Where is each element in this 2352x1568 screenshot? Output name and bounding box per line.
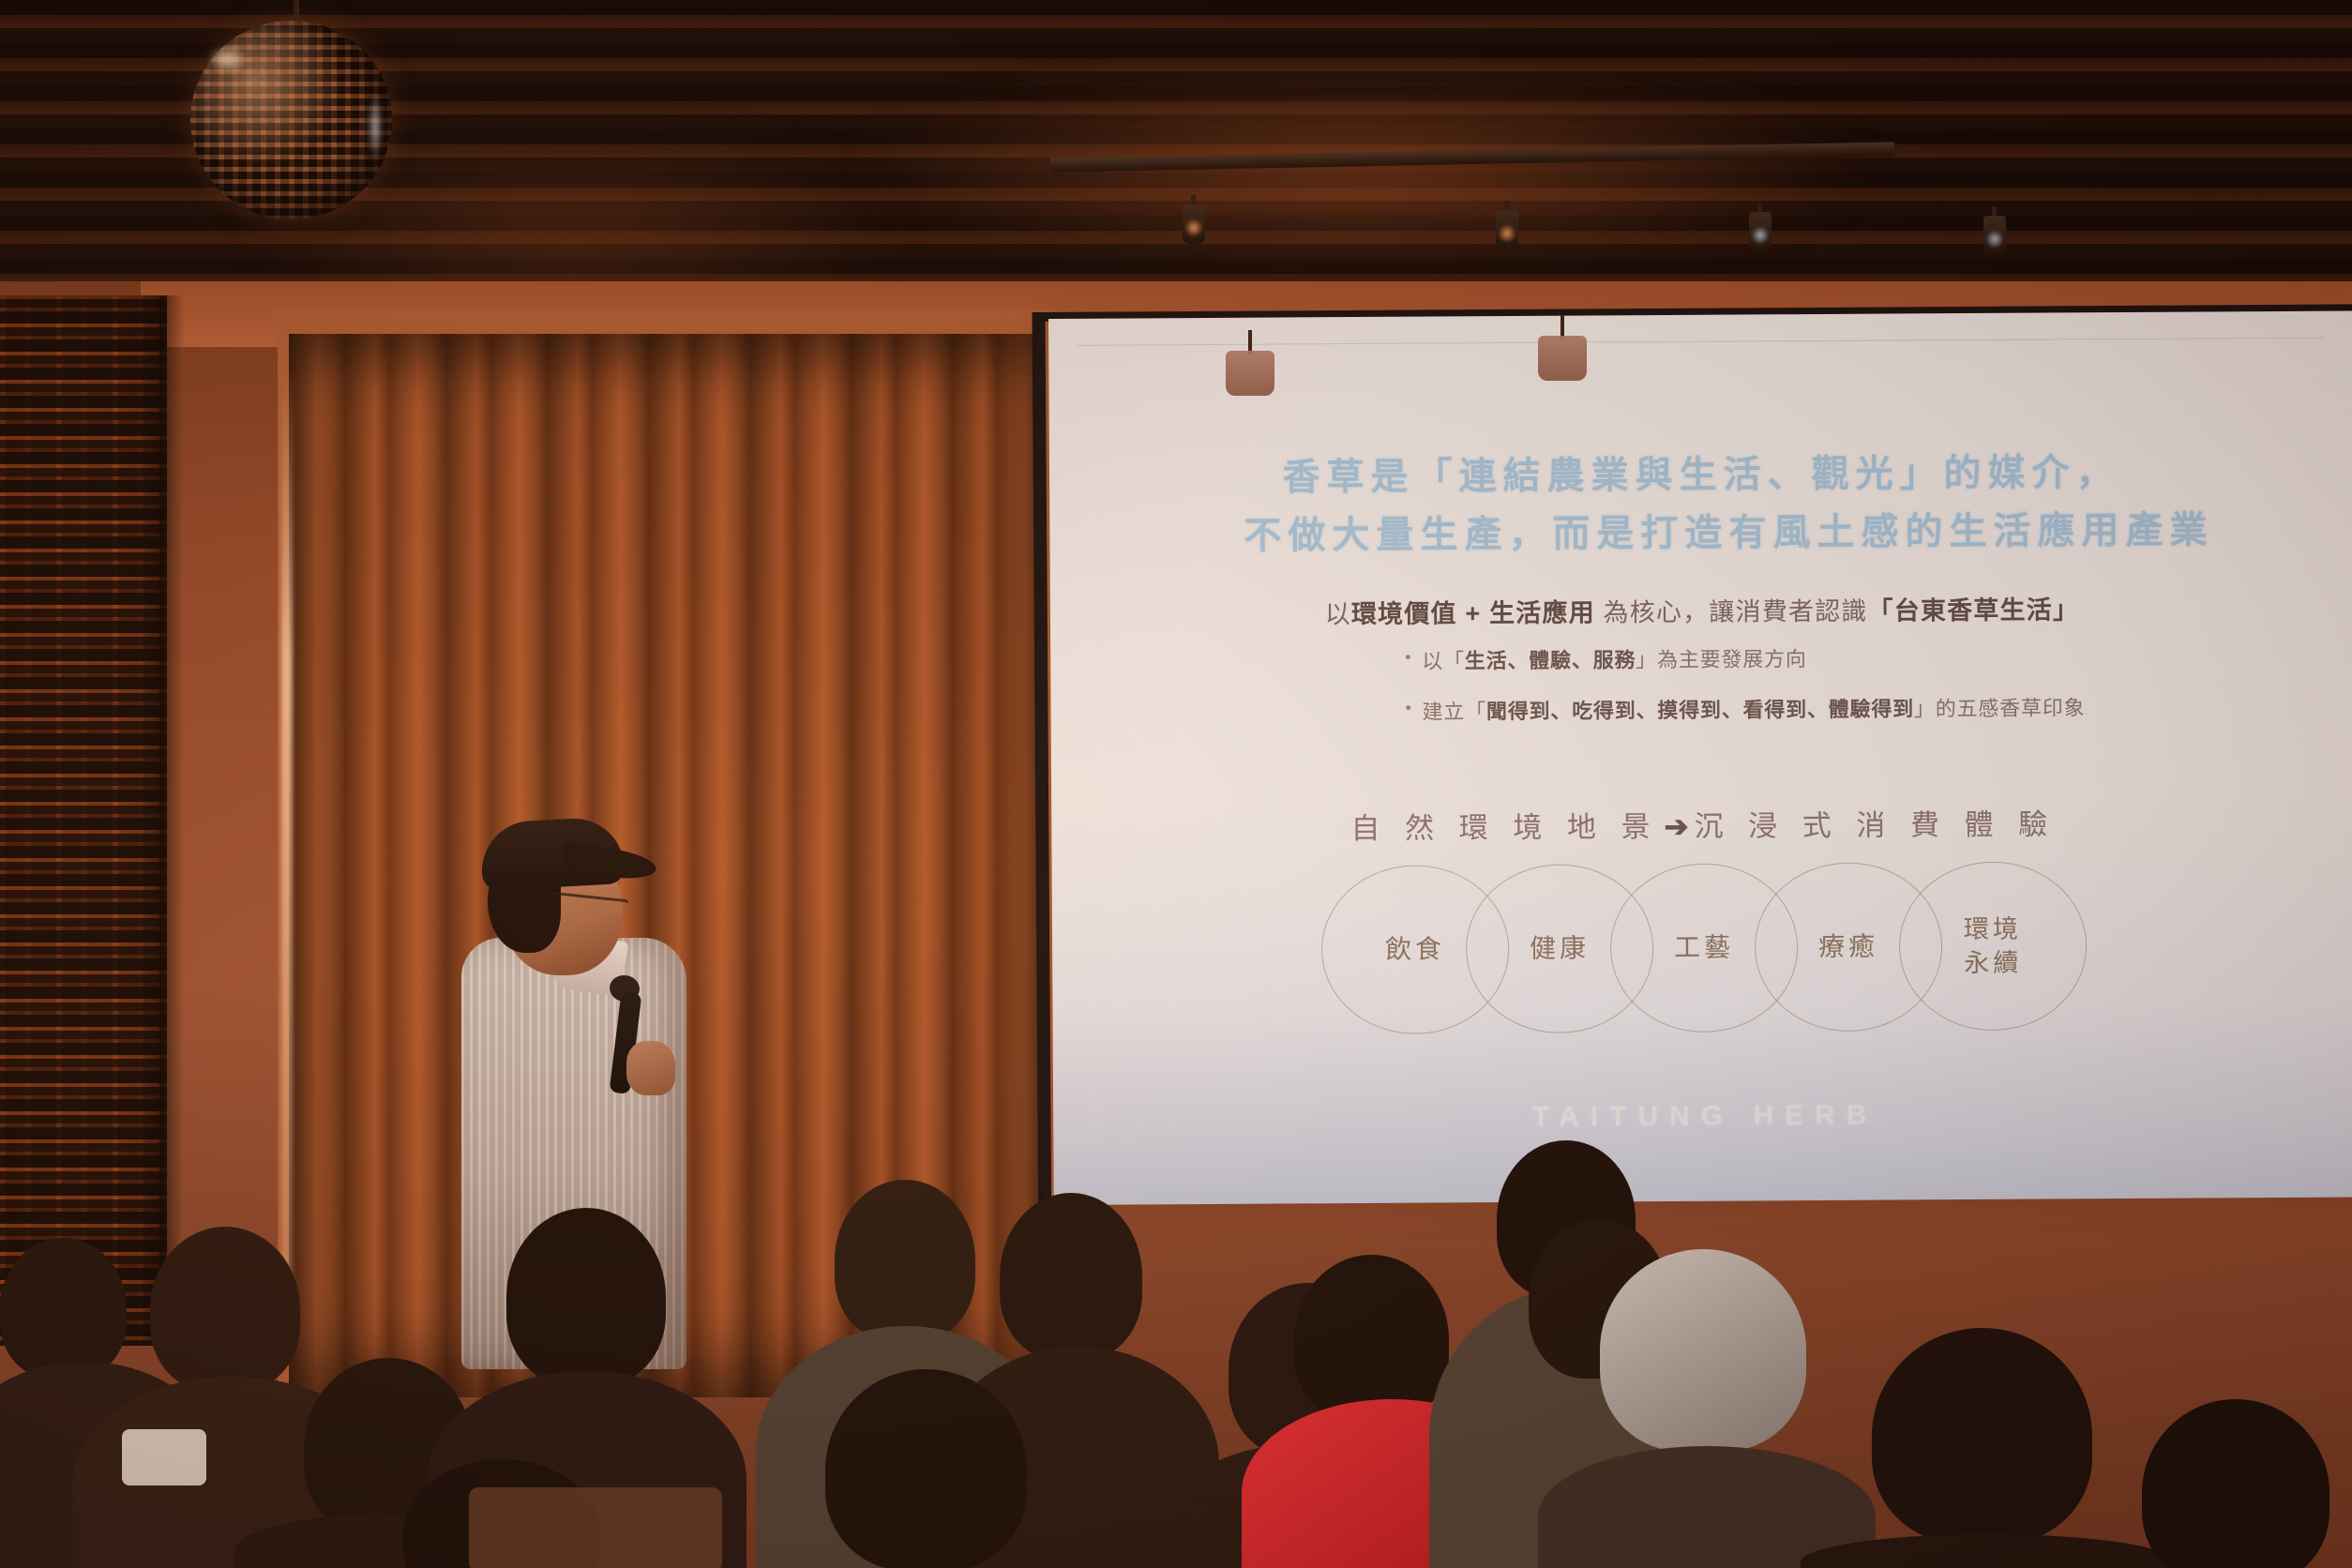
venn-label-4: 療癒 (1818, 929, 1878, 965)
tapestry-shadow-edge (159, 295, 184, 1346)
slide-headline: 香草是「連結農業與生活、觀光」的媒介， 不做大量生產，而是打造有風土感的生活應用… (1049, 443, 2352, 566)
venn-label-1: 飲食 (1385, 932, 1445, 968)
lead-emphasis-1: 環境價值 + 生活應用 (1351, 598, 1595, 628)
disco-ball-rim-light (368, 94, 383, 159)
bullet-text-1: 以「生活、體驗、服務」為主要發展方向 (1422, 642, 1807, 675)
headline-line-1: 香草是「連結農業與生活、觀光」的媒介， (1049, 443, 2352, 508)
lead-middle: 為核心，讓消費者認識 (1595, 597, 1868, 627)
lead-prefix: 以 (1325, 600, 1351, 628)
presentation-photo-scene: 香草是「連結農業與生活、觀光」的媒介， 不做大量生產，而是打造有風土感的生活應用… (0, 0, 2352, 1568)
venn-circle-5: 環境 永續 (1899, 861, 2088, 1031)
venn-label-2: 健康 (1530, 931, 1590, 967)
disco-ball-highlight (207, 45, 249, 73)
headline-line-2: 不做大量生產，而是打造有風土感的生活應用產業 (1104, 501, 2352, 566)
hanging-lamp-left (1226, 330, 1274, 396)
slide-watermark: TAITUNG HERB (1053, 1096, 2352, 1136)
arrow-line-right: 沉 浸 式 消 費 體 驗 (1694, 807, 2056, 842)
slide-bullet-list: • 以「生活、體驗、服務」為主要發展方向 • 建立「聞得到、吃得到、摸得到、看得… (1405, 640, 2344, 746)
speaker-hand (626, 1041, 675, 1095)
spotlight-4 (1981, 206, 2009, 257)
right-arrow-icon: ➔ (1658, 810, 1694, 843)
spotlight-1 (1180, 195, 1208, 246)
curtain-light-gap (281, 366, 293, 1350)
projection-screen: 香草是「連結農業與生活、觀光」的媒介， 不做大量生產，而是打造有風土感的生活應用… (1048, 311, 2352, 1205)
woven-tapestry-panel (0, 295, 167, 1346)
presentation-slide: 香草是「連結農業與生活、觀光」的媒介， 不做大量生產，而是打造有風土感的生活應用… (1048, 311, 2352, 1205)
list-item: • 以「生活、體驗、服務」為主要發展方向 (1405, 640, 2343, 675)
arrow-line-left: 自 然 環 境 地 景 (1350, 810, 1658, 845)
venn-label-3: 工藝 (1674, 930, 1734, 966)
slide-lead-line: 以環境價值 + 生活應用 為核心，讓消費者認識「台東香草生活」 (1050, 588, 2352, 632)
ceiling-glow (844, 75, 1876, 263)
disco-ball-icon (190, 21, 392, 219)
slide-arrow-line: 自 然 環 境 地 景➔沉 浸 式 消 費 體 驗 (1051, 798, 2352, 848)
bullet-marker-icon: • (1405, 696, 1422, 721)
spotlight-3 (1746, 203, 1774, 253)
venn-diagram: 飲食 健康 工藝 療癒 環境 永續 (1052, 859, 2352, 1035)
spotlight-2 (1493, 201, 1521, 251)
list-item: • 建立「聞得到、吃得到、摸得到、看得到、體驗得到」的五感香草印象 (1405, 690, 2343, 726)
bullet-marker-icon: • (1405, 645, 1422, 671)
lead-emphasis-2: 「台東香草生活」 (1867, 596, 2079, 625)
hanging-lamp-right (1538, 315, 1587, 381)
venn-label-5: 環境 永續 (1964, 912, 2022, 980)
bullet-text-2: 建立「聞得到、吃得到、摸得到、看得到、體驗得到」的五感香草印象 (1422, 691, 2085, 725)
